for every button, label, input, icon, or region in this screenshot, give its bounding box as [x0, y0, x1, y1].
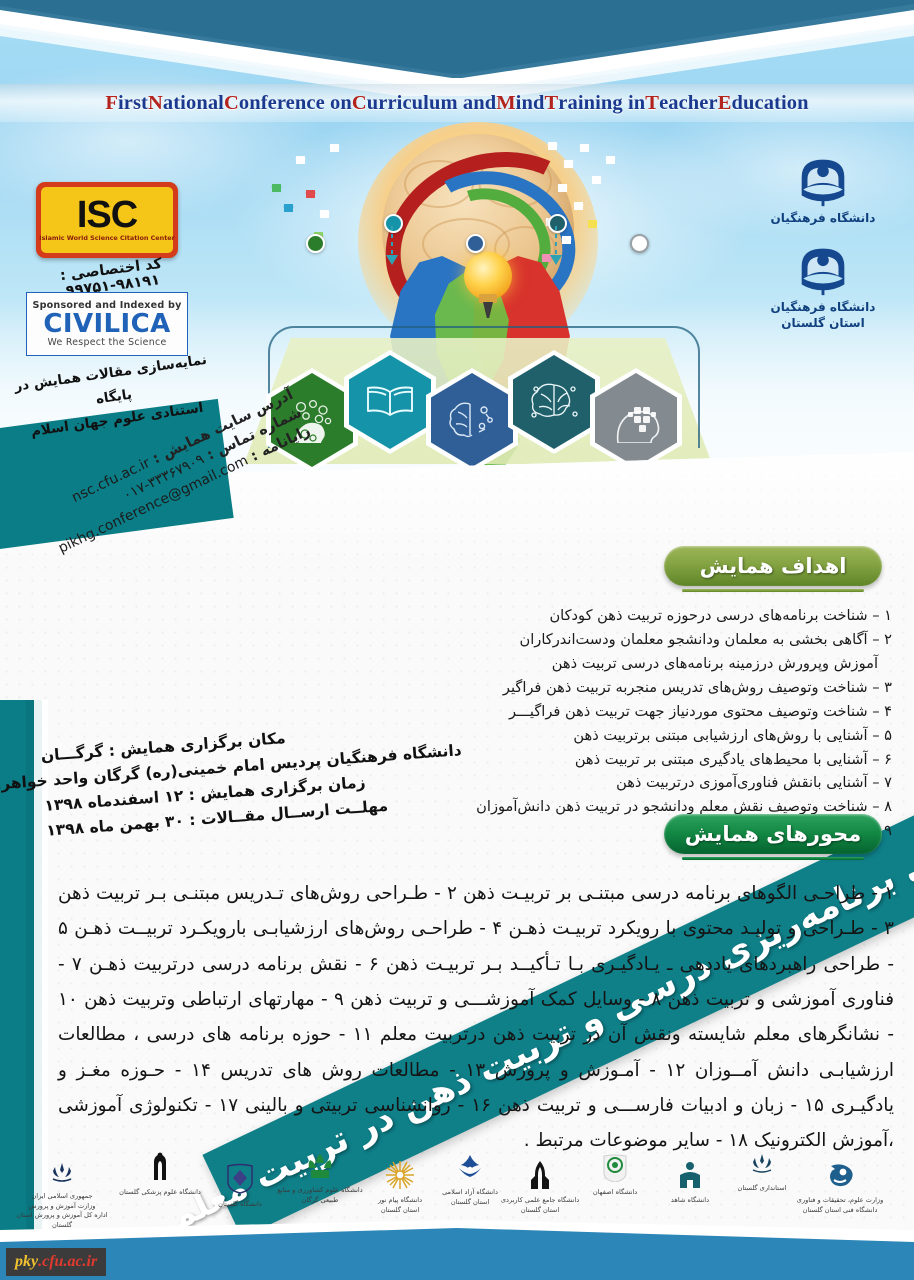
isfahan-university-icon	[600, 1152, 630, 1186]
objective-item: آموزش وپرورش درزمینه برنامه‌های درسی ترب…	[440, 652, 892, 676]
watermark-domain: .cfu.ac.ir	[38, 1253, 97, 1271]
site-watermark: pky.cfu.ac.ir	[6, 1248, 106, 1276]
isc-acronym: ISC	[77, 198, 137, 233]
civilica-logo: Sponsored and Indexed by CIVILICA We Res…	[26, 292, 188, 356]
golestan-university-icon	[225, 1160, 255, 1198]
farhangian-golestan-label: دانشگاه فرهنگیاناستان گلستان	[771, 300, 876, 332]
isc-subtitle: Islamic World Science Citation Center	[39, 234, 175, 242]
objective-item: ۲ – آگاهی بخشی به معلمان ودانشجو معلمان …	[440, 628, 892, 652]
watermark-prefix: pky	[15, 1253, 38, 1271]
sponsor-caption: استانداری گلستان	[738, 1184, 787, 1194]
butterfly-icon	[588, 220, 597, 228]
node-dot	[306, 234, 325, 253]
butterfly-icon	[330, 144, 339, 152]
butterfly-icon	[306, 190, 315, 198]
butterfly-icon	[284, 204, 293, 212]
butterfly-icon	[562, 236, 571, 244]
english-conference-title: First National Conference on Curriculum …	[0, 86, 914, 120]
shahed-university-icon	[675, 1160, 705, 1194]
sponsor-caption: دانشگاه پیام نوراستان گلستان	[378, 1196, 422, 1215]
payame-noor-golestan-icon	[385, 1160, 415, 1194]
sponsor-caption: دانشگاه اصفهان	[593, 1188, 637, 1198]
sponsor-caption: دانشگاه جامع علمی کاربردیاستان گلستان	[501, 1196, 579, 1215]
sponsor-caption: جمهوری اسلامی ایرانوزارت آموزش و پرورشاد…	[14, 1192, 110, 1231]
sponsor-caption: دانشگاه آزاد اسلامیاستان گلستان	[442, 1188, 498, 1207]
objective-item: ۵ – آشنایی با روش‌های ارزشیابی مبتنی برت…	[440, 724, 892, 748]
dotted-arrow-icon	[391, 226, 393, 256]
sponsor-caption: وزارت علوم، تحقیقات و فناوریدانشگاه فنی …	[797, 1196, 884, 1215]
conference-poster: First National Conference on Curriculum …	[0, 0, 914, 1280]
sponsor-caption: دانشگاه گلستان	[218, 1200, 262, 1210]
sponsor-logo-ministry-education-golestan: جمهوری اسلامی ایرانوزارت آموزش و پرورشاد…	[14, 1160, 110, 1231]
dotted-arrow-icon	[555, 226, 557, 256]
butterfly-icon	[296, 156, 305, 164]
butterfly-icon	[320, 210, 329, 218]
sponsor-caption: دانشگاه شاهد	[671, 1196, 709, 1206]
objective-item: ۳ – شناخت وتوصیف روش‌های تدریس منجربه تر…	[440, 676, 892, 700]
isc-logo: ISC Islamic World Science Citation Cente…	[36, 182, 178, 258]
butterfly-icon	[564, 160, 573, 168]
civilica-tagline: We Respect the Science	[47, 337, 166, 348]
applied-science-golestan-icon	[527, 1160, 553, 1194]
civilica-name: CIVILICA	[43, 311, 170, 337]
farhangian-golestan-logo-icon	[792, 237, 854, 299]
golestan-governorate-icon	[750, 1152, 774, 1182]
sponsor-logo-science-research-golestan: وزارت علوم، تحقیقات و فناوریدانشگاه فنی …	[792, 1160, 888, 1215]
farhangian-logo-golestan: دانشگاه فرهنگیاناستان گلستان	[748, 237, 898, 332]
objective-item: ۷ – آشنایی بانقش فناوری‌آموزی درتربیت ذه…	[440, 771, 892, 795]
azad-university-golestan-icon	[455, 1152, 485, 1186]
objective-item: ۱ – شناخت برنامه‌های درسی درحوزه تربیت ذ…	[440, 604, 892, 628]
topics-heading: محورهای همایش	[664, 814, 882, 854]
farhangian-logo-main: دانشگاه فرهنگیان	[748, 148, 898, 227]
butterfly-icon	[606, 156, 615, 164]
farhangian-logo-label: دانشگاه فرهنگیان	[771, 211, 876, 227]
objectives-heading: اهداف همایش	[664, 546, 882, 586]
golestan-medical-sciences-icon	[146, 1152, 174, 1186]
node-dot	[548, 214, 567, 233]
farhangian-logos: دانشگاه فرهنگیان دانشگاه فرهنگیاناستان گ…	[748, 148, 898, 341]
butterfly-icon	[272, 184, 281, 192]
butterfly-icon	[574, 202, 583, 210]
top-chevron-decoration	[0, 0, 914, 96]
objectives-list: ۱ – شناخت برنامه‌های درسی درحوزه تربیت ذ…	[440, 604, 892, 843]
topics-body: ۱ - طراحـی الگوهای برنامه درسی مبتنـی بر…	[58, 876, 894, 1159]
node-dot	[630, 234, 649, 253]
butterfly-icon	[558, 184, 567, 192]
node-dot	[384, 214, 403, 233]
butterfly-icon	[592, 176, 601, 184]
gonbad-agriculture-natural-resources-icon	[305, 1152, 335, 1184]
ministry-education-golestan-icon	[49, 1160, 75, 1190]
sponsor-caption: دانشگاه علوم پزشکی گلستان	[119, 1188, 201, 1198]
butterfly-icon	[580, 144, 589, 152]
science-research-golestan-icon	[825, 1160, 855, 1194]
node-dot	[466, 234, 485, 253]
butterfly-icon	[548, 142, 557, 150]
objective-item: ۶ – آشنایی با محیط‌های یادگیری مبتنی بر …	[440, 748, 892, 772]
farhangian-logo-icon	[792, 148, 854, 210]
venue-place-city: گرگـــان	[40, 742, 104, 765]
objective-item: ۴ – شناخت وتوصیف محتوی موردنیاز جهت تربی…	[440, 700, 892, 724]
